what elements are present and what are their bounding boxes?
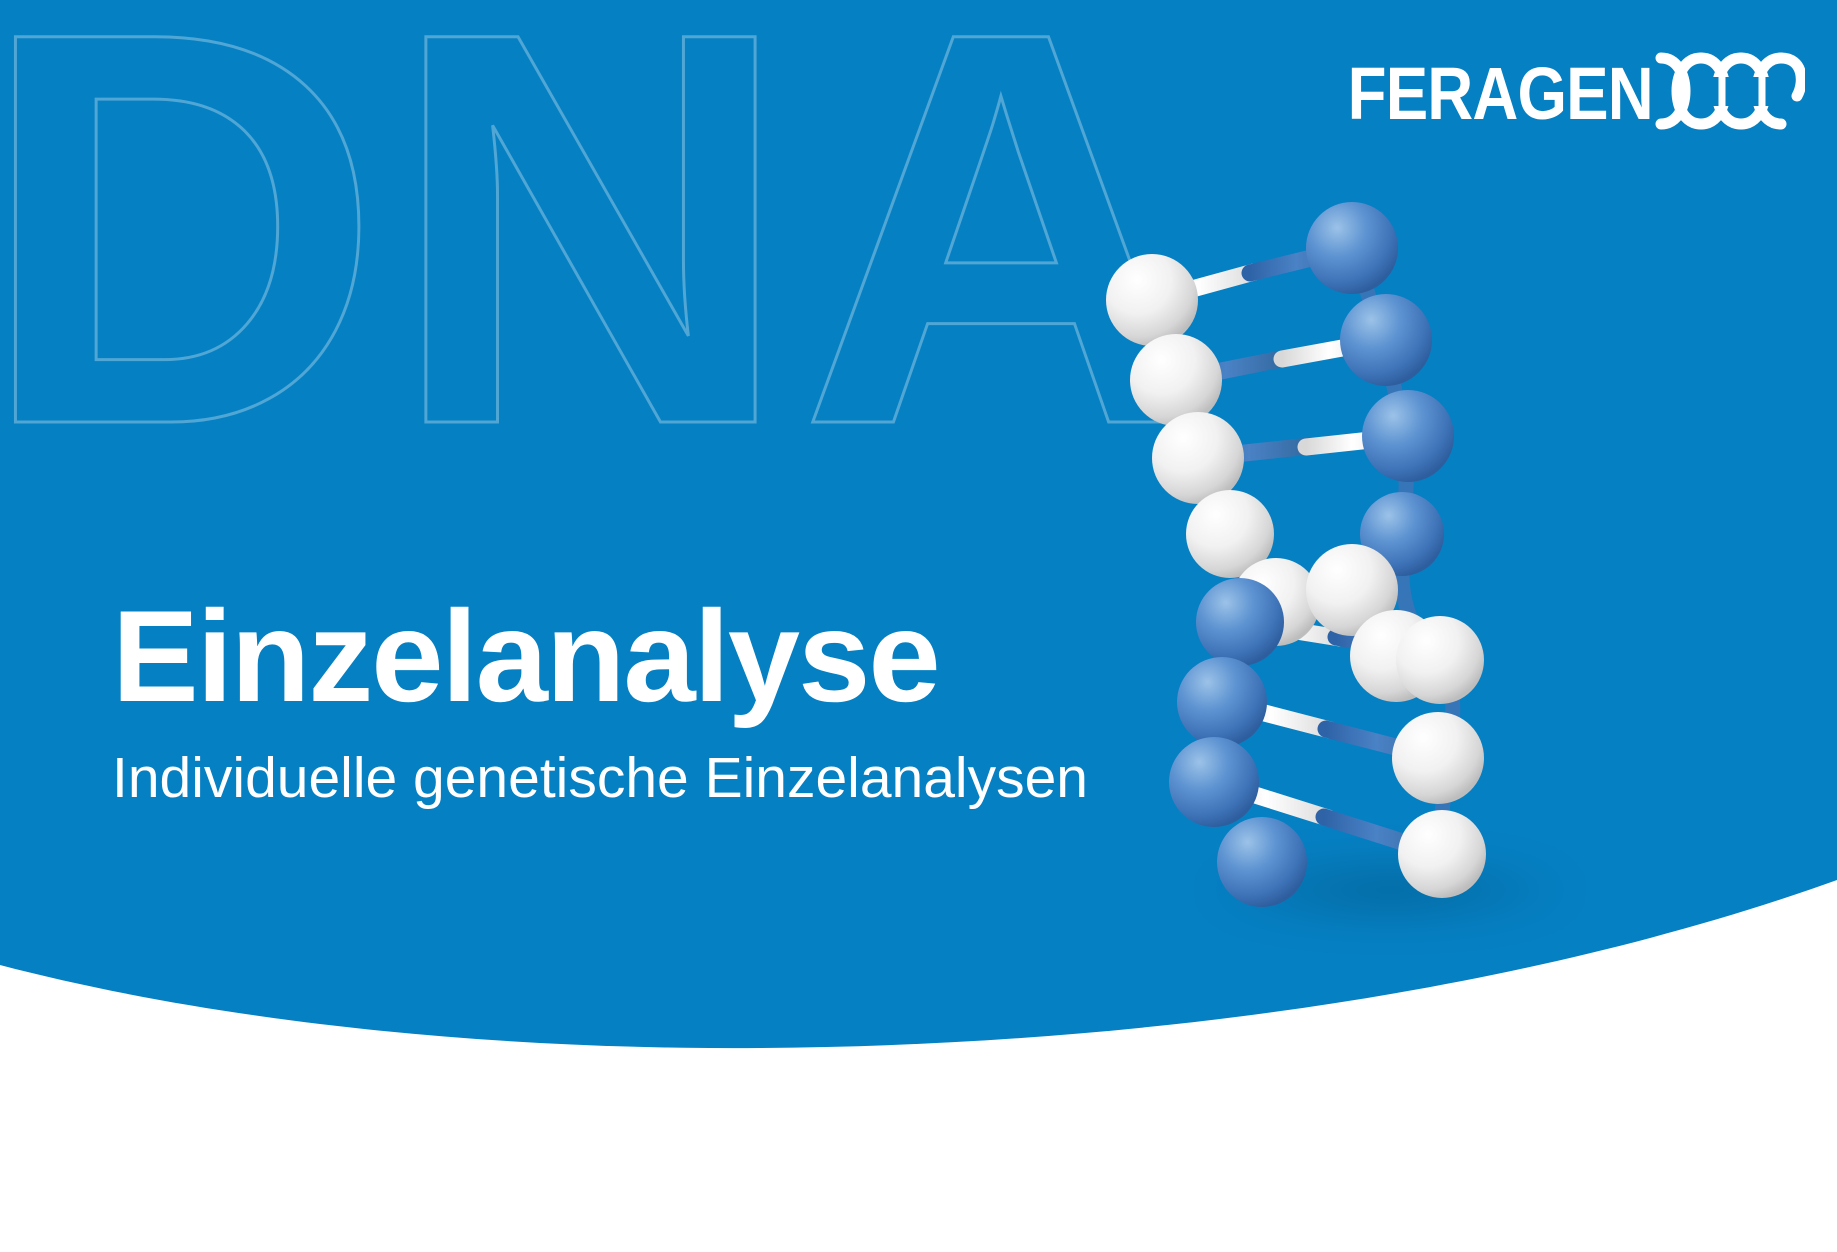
brand-logo[interactable]: FERAGEN (1298, 52, 1805, 135)
page-title: Einzelanalyse (112, 588, 1088, 726)
page-subtitle: Individuelle genetische Einzelanalysen (112, 744, 1088, 812)
headline-block: Einzelanalyse Individuelle genetische Ei… (112, 588, 1088, 812)
dna-helix-icon (1653, 52, 1805, 135)
dna-analysis-banner: DNA (0, 0, 1837, 1252)
brand-wordmark: FERAGEN (1348, 57, 1653, 131)
